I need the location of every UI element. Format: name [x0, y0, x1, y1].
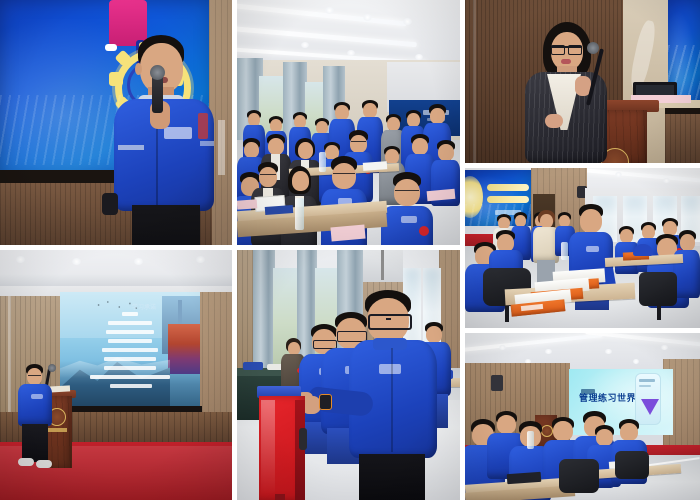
podium-speaker-jacket — [18, 384, 52, 426]
pledge-line — [90, 375, 170, 379]
trainee-foreground-glasses — [368, 314, 412, 330]
chair-leg — [505, 304, 509, 322]
podium-speaker-head — [27, 368, 42, 385]
trainee-foreground — [349, 290, 437, 500]
ceiling-downlight-3 — [403, 18, 412, 25]
ceiling-downlight-4 — [661, 345, 668, 350]
purple-triangle-logo — [641, 399, 659, 415]
chair-right-leg — [657, 304, 661, 320]
wall-speaker-box — [491, 375, 503, 391]
panel-audience-seated-classroom — [237, 0, 460, 245]
speaker-figure — [108, 35, 218, 245]
ceiling-downlight-5 — [347, 50, 355, 56]
speaker-pocket-flap — [198, 113, 208, 139]
trainee-foreground-collar — [373, 338, 407, 350]
ceiling-downlight-4 — [196, 256, 205, 263]
blue-helmet — [633, 244, 653, 256]
hanging-rod — [381, 250, 384, 280]
trainee-foreground-glasses-bridge — [386, 318, 391, 320]
speaker-sleeve-stripe — [118, 145, 144, 150]
ceiling-downlight-1 — [325, 7, 334, 14]
curtain-1 — [253, 250, 275, 380]
ceiling-downlight-2 — [545, 349, 552, 354]
wall-left-panel-edge — [8, 296, 11, 426]
podium-speaker-trousers — [22, 424, 48, 462]
slide-title-cn: 学习承诺 — [132, 302, 156, 311]
water-bottle — [561, 242, 568, 260]
equipment-handle — [299, 428, 307, 450]
podium-speaker-chest-logo — [31, 394, 43, 399]
presenter-glasses-lens-l — [551, 45, 565, 55]
presenter-hand-lower — [545, 114, 563, 128]
ceiling-downlight-6 — [633, 359, 639, 364]
wainscot-right — [665, 114, 700, 163]
pledge-line — [104, 357, 156, 361]
uniform-badge — [419, 226, 429, 236]
ceiling-downlight-1 — [16, 256, 25, 263]
equipment-stand — [275, 494, 285, 500]
pledge-line — [104, 366, 156, 370]
gooseneck-microphone-head — [587, 42, 599, 54]
participant-chest-logo — [586, 246, 599, 252]
podium-speaker-shoe-r — [36, 460, 52, 468]
chair-foreground — [559, 459, 599, 493]
speaker-trousers — [132, 205, 200, 245]
water-bottle — [527, 431, 534, 449]
trainee-foreground-chest-logo — [379, 364, 401, 374]
handout-pink-2 — [330, 225, 365, 242]
pledge-line — [102, 348, 158, 352]
speaker-chest-logo — [164, 127, 192, 139]
speaker-clicker — [102, 193, 118, 215]
screen-caption-pill-1 — [487, 184, 529, 191]
water-bottle-2 — [319, 152, 326, 172]
table-item-blue — [243, 362, 263, 370]
seated-participant-front — [673, 230, 700, 308]
wristwatch — [319, 394, 332, 410]
speaker-sleeve-stripe-right — [200, 141, 214, 146]
panel-speaker-with-microphone — [0, 0, 232, 245]
chair-right — [615, 451, 649, 479]
microphone-head — [150, 65, 165, 80]
ceiling-downlight-1 — [615, 172, 622, 177]
slide-headline-cn: 管理练习世界 — [579, 395, 636, 404]
pledge-line — [108, 339, 152, 343]
panel-materials-handout-session — [465, 168, 700, 328]
ceiling-downlight-4 — [301, 42, 309, 48]
ceiling-bulkhead — [0, 274, 232, 286]
ceiling-downlight-2 — [663, 178, 670, 183]
pledge-line — [110, 384, 152, 388]
wall-right-wood — [196, 292, 232, 422]
presenter-lips — [561, 59, 571, 64]
wall-divider — [473, 0, 476, 163]
phone-screen-line — [639, 379, 655, 382]
ceiling-downlight-2 — [363, 14, 372, 21]
slide-crowd-photo — [168, 324, 200, 374]
ceiling-downlight-2 — [72, 258, 81, 265]
attendee-front — [381, 172, 433, 245]
pledge-line — [106, 330, 154, 334]
panel-hands-on-equipment-practice — [237, 250, 460, 500]
phone-screen-line-2 — [639, 385, 651, 387]
podium-speaker-shoe-l — [18, 458, 34, 466]
pledge-line — [108, 321, 152, 325]
screen-caption-pill-2 — [487, 196, 529, 203]
chair-right — [639, 272, 677, 306]
wall-right-light — [218, 120, 225, 175]
ceiling-downlight-3 — [134, 258, 143, 265]
panel-woman-presenter-at-lectern — [465, 0, 700, 163]
presenter-glasses-lens-r — [568, 45, 582, 55]
ceiling-downlight-1 — [499, 345, 506, 350]
red-equipment-panel-side — [295, 400, 305, 500]
participant-head — [580, 209, 602, 233]
trainee-foreground-zip — [391, 348, 393, 452]
red-panel-highlight — [261, 400, 275, 496]
pledge-line — [122, 312, 138, 316]
panel-speaker-at-podium-pledge-slide: 学习承诺 — [0, 250, 232, 500]
water-bottle — [295, 198, 304, 230]
speaker-ear — [135, 63, 142, 75]
slide-pledge-text — [88, 312, 172, 394]
trainee-foreground-trousers — [359, 454, 425, 500]
podium-speaker-figure — [18, 364, 52, 468]
panel-keynote-slide-audience: 管理练习世界 — [465, 333, 700, 500]
handout-pink — [237, 199, 257, 209]
photo-collage: 管理练习世界 — [0, 0, 700, 500]
ceiling-downlight-3 — [605, 349, 612, 354]
podium-speaker-glasses — [28, 375, 41, 376]
